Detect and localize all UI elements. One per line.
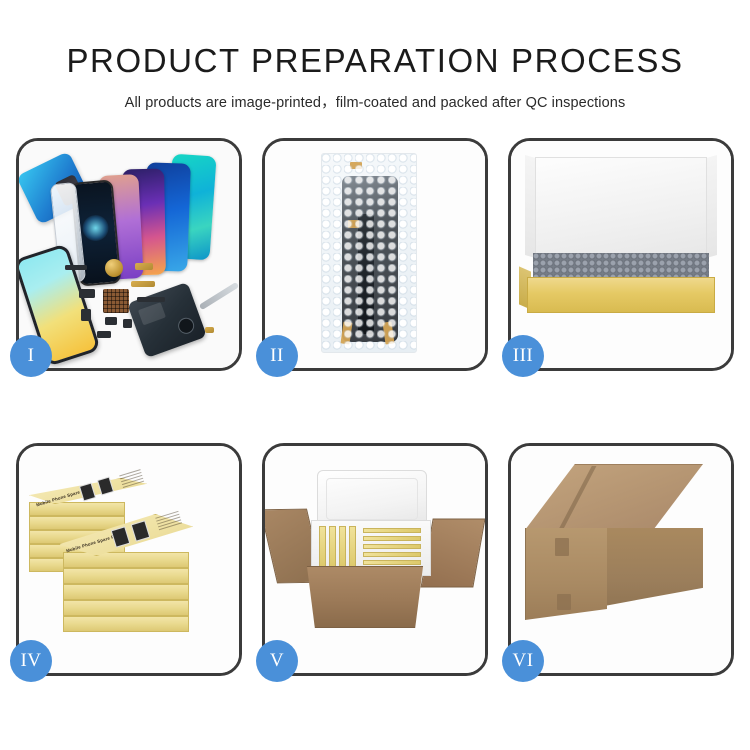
part-chip-c-icon xyxy=(81,309,91,321)
step-panel-6: Sealed brown shipping carton ready to sh… xyxy=(508,443,734,676)
yellow-box-h3 xyxy=(363,544,421,549)
sealed-carton-illustration: Sealed brown shipping carton ready to sh… xyxy=(511,446,731,673)
step-image-6: Sealed brown shipping carton ready to sh… xyxy=(511,446,731,673)
open-yellow-box-illustration: Item placed in yellow box with protectiv… xyxy=(511,141,731,368)
logic-board-icon xyxy=(103,289,129,313)
carton-top-face-icon xyxy=(525,464,703,530)
yellow-box-v4 xyxy=(349,526,356,568)
yellow-box-h5 xyxy=(363,560,421,565)
part-chip-f-icon xyxy=(97,331,111,338)
carton-tape-lower-icon xyxy=(557,594,571,610)
step-panel-4: Mobile Phone Spare Parts xyxy=(16,443,242,676)
bubble-wrapped-screen-illustration: Single screen sealed in bubble wrap bag xyxy=(265,141,485,368)
part-chip-d-icon xyxy=(105,317,117,325)
screen-flex-strip-icon xyxy=(358,214,374,334)
stacked-box-fr-5 xyxy=(63,616,189,632)
page-title: PRODUCT PREPARATION PROCESS xyxy=(0,42,750,80)
part-chip-a-icon xyxy=(65,265,87,270)
step-image-1: Assorted phone display assemblies and sp… xyxy=(19,141,239,368)
foam-box-in-carton-illustration: Boxes loaded into foam case inside shipp… xyxy=(265,446,485,673)
yellow-box-v2 xyxy=(329,526,336,568)
step-badge-6: VI xyxy=(502,640,544,682)
speaker-part-icon xyxy=(105,259,123,277)
stacked-yellow-boxes-illustration: Mobile Phone Spare Parts xyxy=(19,446,239,673)
step-panel-2: Single screen sealed in bubble wrap bag … xyxy=(262,138,488,371)
carton-right-face-icon xyxy=(607,528,703,616)
stacked-box-fr-1 xyxy=(63,552,189,568)
phone-back-housing-icon xyxy=(127,282,207,358)
phone-screens-and-parts-illustration: Assorted phone display assemblies and sp… xyxy=(19,141,239,368)
step-panel-1: Assorted phone display assemblies and sp… xyxy=(16,138,242,371)
box-stack: Mobile Phone Spare Parts xyxy=(29,466,229,656)
stacked-box-fr-3 xyxy=(63,584,189,600)
yellow-box-v3 xyxy=(339,526,346,568)
part-connector-b-icon xyxy=(131,281,155,287)
step-badge-1: I xyxy=(10,335,52,377)
step-badge-3: III xyxy=(502,335,544,377)
step-panel-3: Item placed in yellow box with protectiv… xyxy=(508,138,734,371)
step-image-2: Single screen sealed in bubble wrap bag xyxy=(265,141,485,368)
stacked-box-fr-4 xyxy=(63,600,189,616)
page-subtitle: All products are image-printed，film-coat… xyxy=(0,91,750,112)
stacked-box-fr-2 xyxy=(63,568,189,584)
part-connector-a-icon xyxy=(135,263,153,270)
part-chip-b-icon xyxy=(79,289,95,298)
yellow-box-h1 xyxy=(363,528,421,533)
product-preparation-infographic: PRODUCT PREPARATION PROCESS All products… xyxy=(0,0,750,750)
carton-front-icon xyxy=(299,566,431,628)
step-badge-5: V xyxy=(256,640,298,682)
flex-cable-icon xyxy=(137,297,165,302)
box-label-lines-1 xyxy=(119,469,144,490)
step-image-4: Mobile Phone Spare Parts xyxy=(19,446,239,673)
part-connector-c-icon xyxy=(205,327,214,333)
tape-mid-icon xyxy=(348,220,359,228)
step-image-5: Boxes loaded into foam case inside shipp… xyxy=(265,446,485,673)
yellow-box-v1 xyxy=(319,526,326,568)
yellow-box-front-icon xyxy=(527,277,715,313)
bubble-wrap-bag-icon xyxy=(321,153,417,353)
yellow-box-h2 xyxy=(363,536,421,541)
carton-tape-upper-icon xyxy=(555,538,569,556)
header: PRODUCT PREPARATION PROCESS All products… xyxy=(0,0,750,112)
yellow-boxes-group xyxy=(319,526,423,568)
step-panel-5: Boxes loaded into foam case inside shipp… xyxy=(262,443,488,676)
stacked-box-bl-2 xyxy=(29,516,125,530)
part-chip-e-icon xyxy=(123,319,132,328)
step-badge-2: II xyxy=(256,335,298,377)
screwdriver-icon xyxy=(199,282,239,310)
tape-top-icon xyxy=(350,162,362,169)
process-steps-grid: Assorted phone display assemblies and sp… xyxy=(16,138,734,678)
step-badge-4: IV xyxy=(10,640,52,682)
yellow-box-h4 xyxy=(363,552,421,557)
step-image-3: Item placed in yellow box with protectiv… xyxy=(511,141,731,368)
